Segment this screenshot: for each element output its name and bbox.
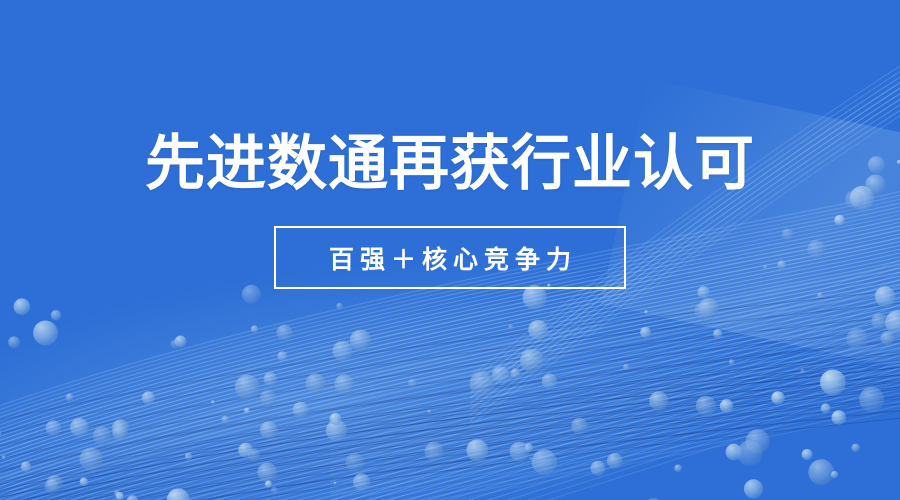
- promo-banner: 先进数通再获行业认可 百强＋核心竞争力: [0, 0, 900, 500]
- banner-content: 先进数通再获行业认可 百强＋核心竞争力: [0, 0, 900, 500]
- subtitle-badge: 百强＋核心竞争力: [274, 226, 626, 289]
- subtitle-badge-label: 百强＋核心竞争力: [323, 240, 577, 276]
- page-title: 先进数通再获行业认可: [145, 134, 755, 194]
